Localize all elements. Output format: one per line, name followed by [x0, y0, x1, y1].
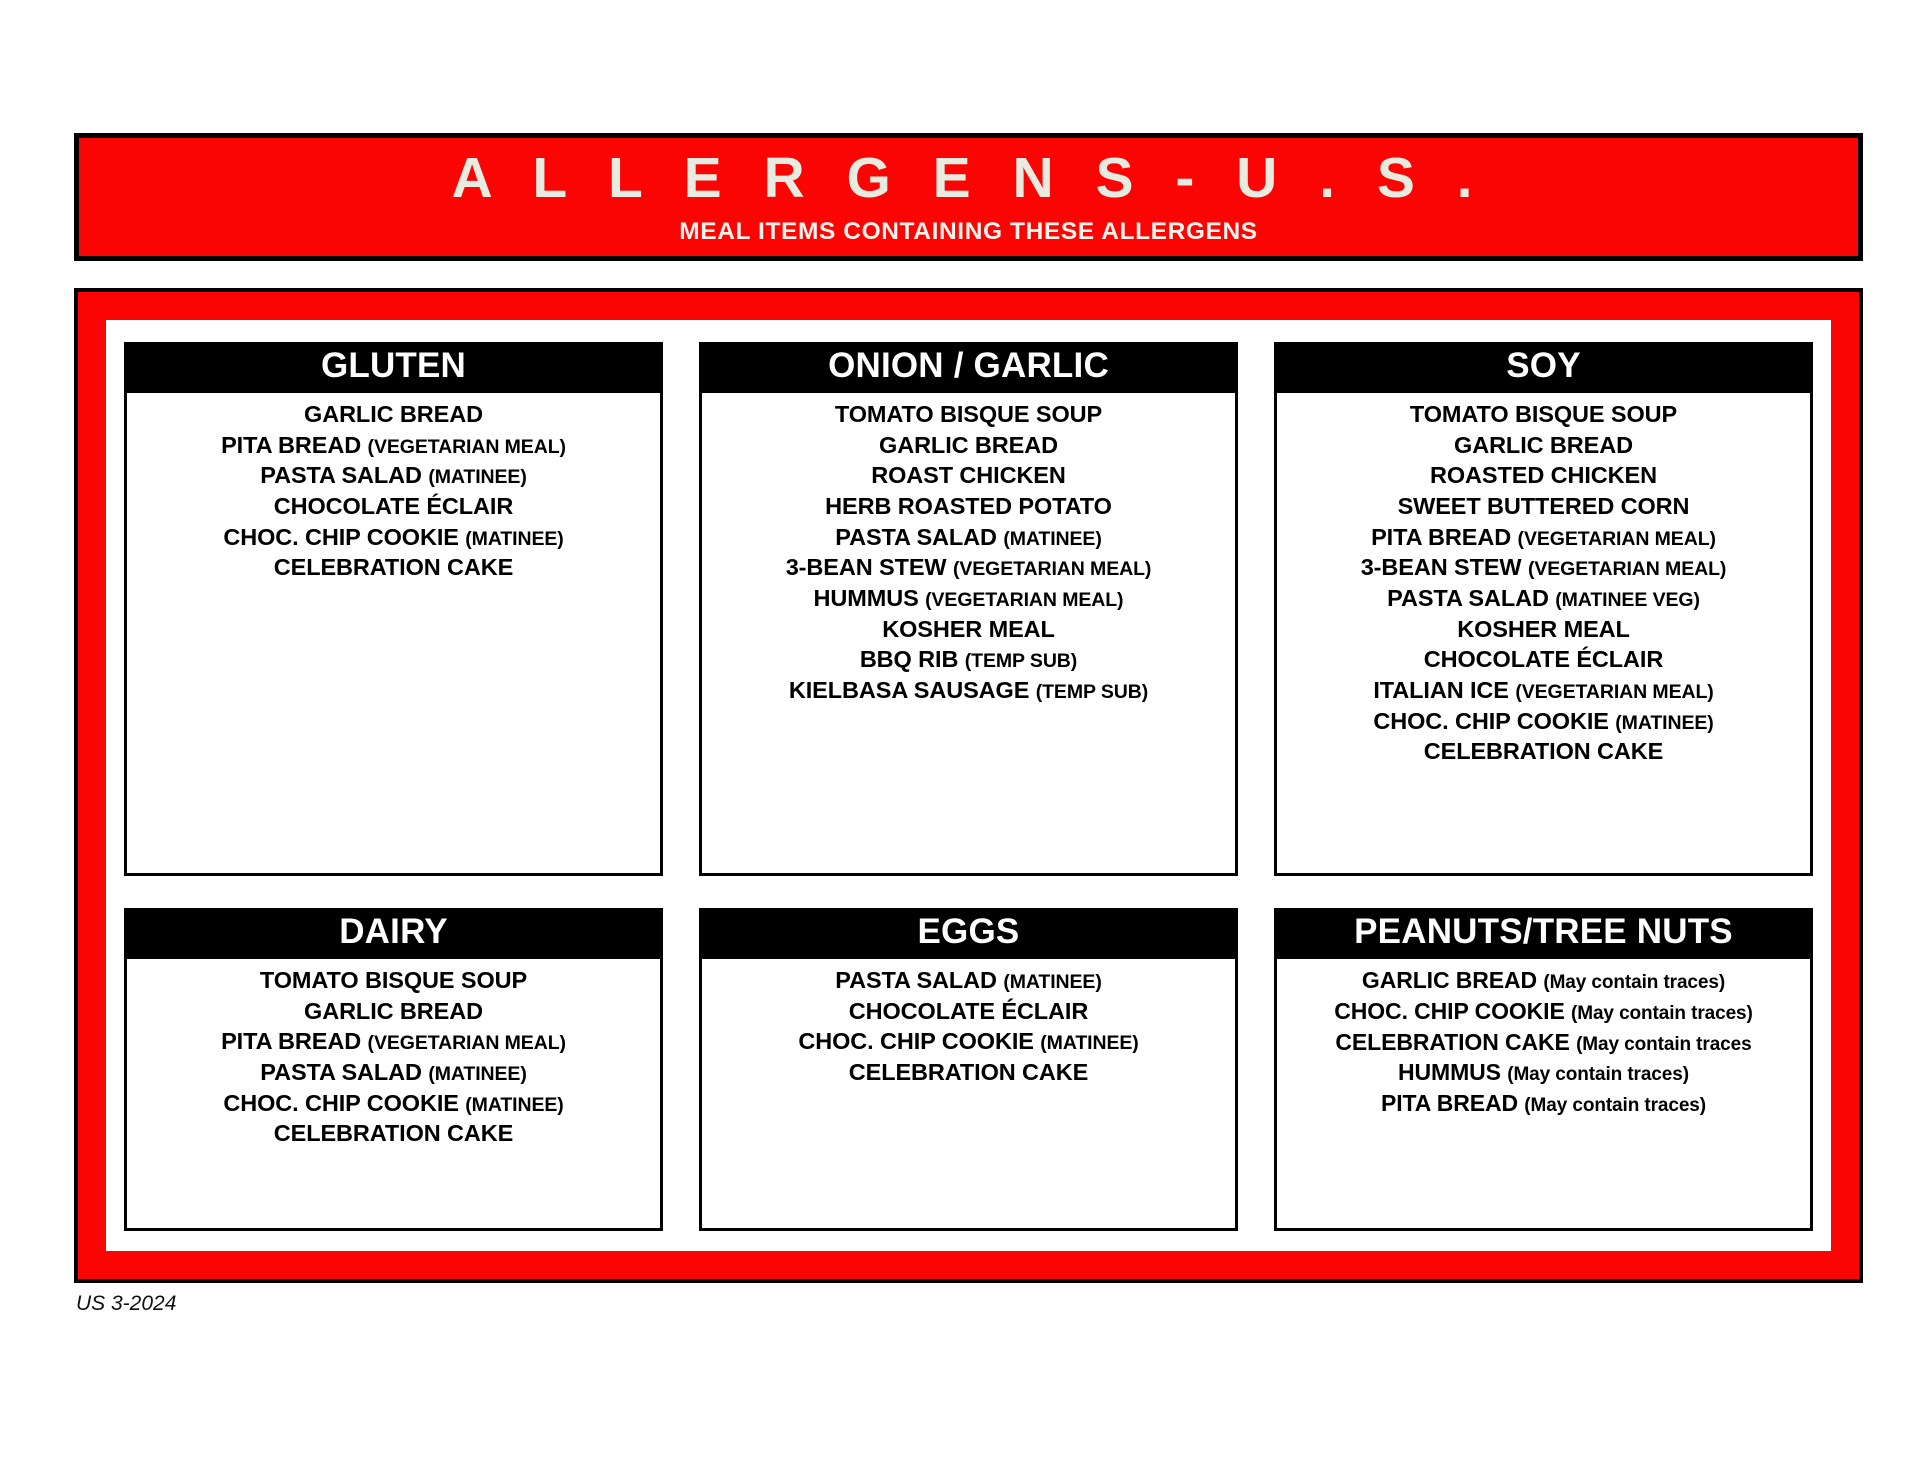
list-item: CELEBRATION CAKE	[131, 552, 656, 583]
allergen-box-onion-garlic: ONION / GARLIC TOMATO BISQUE SOUP GARLIC…	[699, 342, 1238, 876]
allergen-item-list: GARLIC BREAD (May contain traces) CHOC. …	[1274, 959, 1813, 1231]
list-item: GARLIC BREAD	[131, 399, 656, 430]
list-item: SWEET BUTTERED CORN	[1281, 491, 1806, 522]
allergen-box-title: PEANUTS/TREE NUTS	[1274, 908, 1813, 959]
item-name: CHOC. CHIP COOKIE	[798, 1028, 1034, 1054]
item-name: CELEBRATION CAKE	[274, 1120, 514, 1146]
item-name: HERB ROASTED POTATO	[825, 493, 1112, 519]
item-name: 3-BEAN STEW	[786, 554, 947, 580]
list-item: CHOC. CHIP COOKIE (May contain traces)	[1281, 996, 1806, 1027]
list-item: PASTA SALAD (MATINEE VEG)	[1281, 583, 1806, 614]
list-item: TOMATO BISQUE SOUP	[131, 965, 656, 996]
list-item: PASTA SALAD (MATINEE)	[706, 522, 1231, 553]
list-item: KIELBASA SAUSAGE (TEMP SUB)	[706, 675, 1231, 706]
list-item: KOSHER MEAL	[706, 614, 1231, 645]
item-name: CHOC. CHIP COOKIE	[1334, 998, 1564, 1024]
item-qualifier: (VEGETARIAN MEAL)	[953, 558, 1151, 580]
item-name: ROAST CHICKEN	[871, 462, 1066, 488]
item-name: SWEET BUTTERED CORN	[1398, 493, 1690, 519]
list-item: PITA BREAD (VEGETARIAN MEAL)	[1281, 522, 1806, 553]
item-name: GARLIC BREAD	[304, 998, 483, 1024]
item-qualifier: (May contain traces)	[1571, 1003, 1753, 1024]
item-qualifier: (MATINEE)	[428, 466, 526, 488]
allergen-box-title: EGGS	[699, 908, 1238, 959]
red-frame: GLUTEN GARLIC BREAD PITA BREAD (VEGETARI…	[74, 288, 1863, 1283]
item-name: TOMATO BISQUE SOUP	[835, 401, 1102, 427]
item-name: CELEBRATION CAKE	[1335, 1029, 1569, 1055]
item-qualifier: (May contain traces)	[1543, 972, 1725, 993]
item-name: PASTA SALAD	[1387, 585, 1549, 611]
item-qualifier: (VEGETARIAN MEAL)	[925, 589, 1123, 611]
list-item: HERB ROASTED POTATO	[706, 491, 1231, 522]
allergen-poster: A L L E R G E N S - U . S . MEAL ITEMS C…	[0, 0, 1920, 1484]
list-item: CELEBRATION CAKE	[706, 1057, 1231, 1088]
allergen-item-list: TOMATO BISQUE SOUP GARLIC BREAD PITA BRE…	[124, 959, 663, 1231]
item-name: PITA BREAD	[221, 1028, 361, 1054]
item-qualifier: (MATINEE)	[1040, 1032, 1138, 1054]
item-name: CHOC. CHIP COOKIE	[1373, 708, 1609, 734]
list-item: CHOC. CHIP COOKIE (MATINEE)	[706, 1026, 1231, 1057]
item-name: PASTA SALAD	[835, 524, 997, 550]
list-item: PASTA SALAD (MATINEE)	[131, 1057, 656, 1088]
list-item: CHOC. CHIP COOKIE (MATINEE)	[1281, 706, 1806, 737]
item-name: PITA BREAD	[221, 432, 361, 458]
allergen-box-gluten: GLUTEN GARLIC BREAD PITA BREAD (VEGETARI…	[124, 342, 663, 876]
list-item: CHOCOLATE ÉCLAIR	[706, 996, 1231, 1027]
item-name: GARLIC BREAD	[1454, 432, 1633, 458]
item-name: GARLIC BREAD	[879, 432, 1058, 458]
list-item: CHOC. CHIP COOKIE (MATINEE)	[131, 522, 656, 553]
item-name: PASTA SALAD	[835, 967, 997, 993]
item-qualifier: (MATINEE)	[1003, 528, 1101, 550]
item-name: CELEBRATION CAKE	[1424, 738, 1664, 764]
list-item: CHOC. CHIP COOKIE (MATINEE)	[131, 1088, 656, 1119]
item-qualifier: (VEGETARIAN MEAL)	[1515, 681, 1713, 703]
allergen-item-list: PASTA SALAD (MATINEE) CHOCOLATE ÉCLAIR C…	[699, 959, 1238, 1231]
item-qualifier: (VEGETARIAN MEAL)	[368, 436, 566, 458]
page-title: A L L E R G E N S - U . S .	[451, 150, 1485, 207]
item-name: CHOCOLATE ÉCLAIR	[1424, 646, 1663, 672]
item-qualifier: (MATINEE)	[465, 528, 563, 550]
item-name: PITA BREAD	[1371, 524, 1511, 550]
item-name: ITALIAN ICE	[1373, 677, 1509, 703]
item-qualifier: (MATINEE)	[1003, 971, 1101, 993]
item-qualifier: (VEGETARIAN MEAL)	[368, 1032, 566, 1054]
list-item: CHOCOLATE ÉCLAIR	[1281, 644, 1806, 675]
list-item: HUMMUS (May contain traces)	[1281, 1057, 1806, 1088]
list-item: 3-BEAN STEW (VEGETARIAN MEAL)	[1281, 552, 1806, 583]
white-panel: GLUTEN GARLIC BREAD PITA BREAD (VEGETARI…	[106, 320, 1831, 1251]
footer-revision-note: US 3-2024	[76, 1292, 176, 1316]
list-item: CELEBRATION CAKE	[1281, 736, 1806, 767]
list-item: GARLIC BREAD	[131, 996, 656, 1027]
item-qualifier: (VEGETARIAN MEAL)	[1518, 528, 1716, 550]
list-item: CHOCOLATE ÉCLAIR	[131, 491, 656, 522]
item-qualifier: (MATINEE)	[428, 1063, 526, 1085]
allergen-box-title: GLUTEN	[124, 342, 663, 393]
item-name: 3-BEAN STEW	[1361, 554, 1522, 580]
item-qualifier: (MATINEE)	[1615, 712, 1713, 734]
item-qualifier: (May contain traces)	[1524, 1095, 1706, 1116]
list-item: ITALIAN ICE (VEGETARIAN MEAL)	[1281, 675, 1806, 706]
item-name: PITA BREAD	[1381, 1090, 1518, 1116]
list-item: ROAST CHICKEN	[706, 460, 1231, 491]
item-qualifier: (TEMP SUB)	[965, 650, 1077, 672]
list-item: HUMMUS (VEGETARIAN MEAL)	[706, 583, 1231, 614]
item-name: KIELBASA SAUSAGE	[789, 677, 1029, 703]
allergen-grid: GLUTEN GARLIC BREAD PITA BREAD (VEGETARI…	[124, 342, 1813, 1231]
item-name: HUMMUS	[1398, 1059, 1501, 1085]
page-subtitle: MEAL ITEMS CONTAINING THESE ALLERGENS	[679, 218, 1257, 246]
allergen-box-dairy: DAIRY TOMATO BISQUE SOUP GARLIC BREAD PI…	[124, 908, 663, 1231]
item-name: TOMATO BISQUE SOUP	[260, 967, 527, 993]
item-name: GARLIC BREAD	[1362, 967, 1537, 993]
item-name: CELEBRATION CAKE	[274, 554, 514, 580]
item-name: CELEBRATION CAKE	[849, 1059, 1089, 1085]
list-item: PASTA SALAD (MATINEE)	[131, 460, 656, 491]
allergen-box-title: ONION / GARLIC	[699, 342, 1238, 393]
allergen-item-list: TOMATO BISQUE SOUP GARLIC BREAD ROAST CH…	[699, 393, 1238, 876]
item-name: TOMATO BISQUE SOUP	[1410, 401, 1677, 427]
item-name: KOSHER MEAL	[882, 616, 1055, 642]
list-item: GARLIC BREAD (May contain traces)	[1281, 965, 1806, 996]
list-item: ROASTED CHICKEN	[1281, 460, 1806, 491]
item-qualifier: (VEGETARIAN MEAL)	[1528, 558, 1726, 580]
list-item: KOSHER MEAL	[1281, 614, 1806, 645]
item-name: KOSHER MEAL	[1457, 616, 1630, 642]
allergen-item-list: TOMATO BISQUE SOUP GARLIC BREAD ROASTED …	[1274, 393, 1813, 876]
list-item: CELEBRATION CAKE	[131, 1118, 656, 1149]
item-name: CHOC. CHIP COOKIE	[223, 524, 459, 550]
item-qualifier: (May contain traces)	[1507, 1064, 1689, 1085]
list-item: 3-BEAN STEW (VEGETARIAN MEAL)	[706, 552, 1231, 583]
allergen-box-title: SOY	[1274, 342, 1813, 393]
allergen-box-soy: SOY TOMATO BISQUE SOUP GARLIC BREAD ROAS…	[1274, 342, 1813, 876]
list-item: PITA BREAD (May contain traces)	[1281, 1088, 1806, 1119]
header-banner: A L L E R G E N S - U . S . MEAL ITEMS C…	[74, 133, 1863, 261]
item-name: BBQ RIB	[860, 646, 959, 672]
allergen-item-list: GARLIC BREAD PITA BREAD (VEGETARIAN MEAL…	[124, 393, 663, 876]
list-item: PITA BREAD (VEGETARIAN MEAL)	[131, 1026, 656, 1057]
list-item: GARLIC BREAD	[706, 430, 1231, 461]
list-item: BBQ RIB (TEMP SUB)	[706, 644, 1231, 675]
allergen-box-eggs: EGGS PASTA SALAD (MATINEE) CHOCOLATE ÉCL…	[699, 908, 1238, 1231]
item-name: HUMMUS	[814, 585, 919, 611]
item-qualifier: (MATINEE)	[465, 1094, 563, 1116]
item-qualifier: (MATINEE VEG)	[1555, 589, 1700, 611]
item-name: GARLIC BREAD	[304, 401, 483, 427]
item-name: CHOCOLATE ÉCLAIR	[849, 998, 1088, 1024]
item-name: ROASTED CHICKEN	[1430, 462, 1657, 488]
item-name: CHOCOLATE ÉCLAIR	[274, 493, 513, 519]
item-qualifier: (May contain traces	[1576, 1034, 1752, 1055]
list-item: GARLIC BREAD	[1281, 430, 1806, 461]
list-item: TOMATO BISQUE SOUP	[1281, 399, 1806, 430]
allergen-box-title: DAIRY	[124, 908, 663, 959]
allergen-box-peanuts-tree-nuts: PEANUTS/TREE NUTS GARLIC BREAD (May cont…	[1274, 908, 1813, 1231]
list-item: PASTA SALAD (MATINEE)	[706, 965, 1231, 996]
list-item: CELEBRATION CAKE (May contain traces	[1281, 1027, 1806, 1058]
item-name: PASTA SALAD	[260, 462, 422, 488]
list-item: TOMATO BISQUE SOUP	[706, 399, 1231, 430]
list-item: PITA BREAD (VEGETARIAN MEAL)	[131, 430, 656, 461]
item-name: CHOC. CHIP COOKIE	[223, 1090, 459, 1116]
item-name: PASTA SALAD	[260, 1059, 422, 1085]
item-qualifier: (TEMP SUB)	[1036, 681, 1148, 703]
